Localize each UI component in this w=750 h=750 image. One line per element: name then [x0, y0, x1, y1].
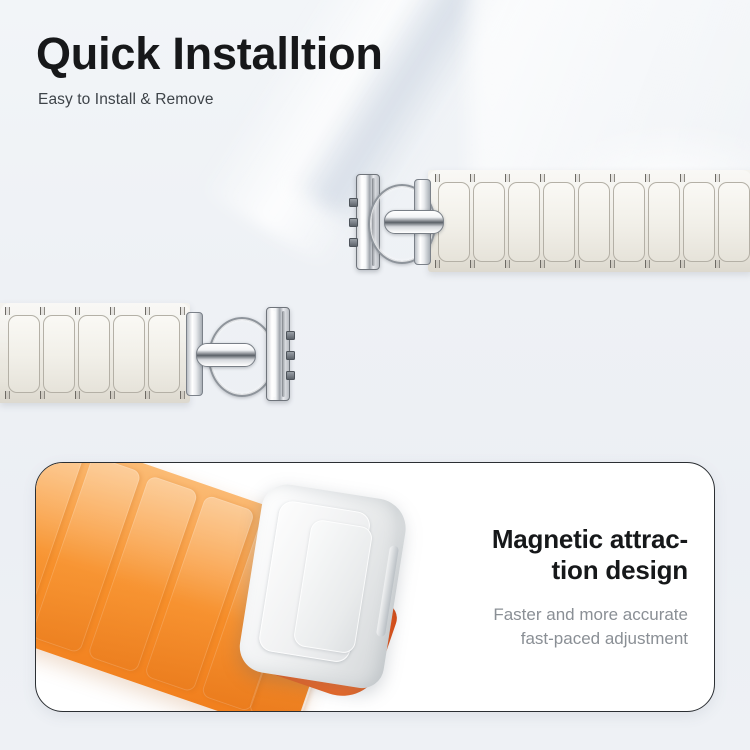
- band-segment: [113, 315, 145, 393]
- feature-title-line-1: Magnetic attrac-: [492, 524, 688, 554]
- feature-card-image: [36, 463, 466, 711]
- band-segment: [148, 315, 180, 393]
- feature-card-text: Magnetic attrac- tion design Faster and …: [436, 463, 688, 711]
- clasp-highlight: [362, 178, 366, 266]
- clasp-shadow: [282, 311, 285, 397]
- clasp-pin: [349, 238, 358, 247]
- band-segment: [543, 182, 575, 262]
- band-notch: [505, 174, 510, 182]
- band-notch: [540, 260, 545, 268]
- band-segment: [613, 182, 645, 262]
- band-notch: [715, 260, 720, 268]
- band-segment: [578, 182, 610, 262]
- band-notch: [715, 174, 720, 182]
- band-segment: [508, 182, 540, 262]
- page-subtitle: Easy to Install & Remove: [38, 91, 383, 109]
- band-notch: [180, 307, 185, 315]
- feature-title-line-2: tion design: [552, 555, 688, 585]
- band-segment: [648, 182, 680, 262]
- band-notch: [645, 260, 650, 268]
- feature-title: Magnetic attrac- tion design: [436, 524, 688, 585]
- band-notch: [540, 174, 545, 182]
- clasp-pin: [349, 218, 358, 227]
- lower-band-assembly: [0, 303, 300, 403]
- band-segment: [43, 315, 75, 393]
- lower-band-strap: [0, 303, 190, 403]
- band-segment: [8, 315, 40, 393]
- feature-description: Faster and more accurate fast-paced adju…: [436, 603, 688, 650]
- feature-card: Magnetic attrac- tion design Faster and …: [35, 462, 715, 712]
- lower-band-clasp: [186, 303, 298, 403]
- release-pin: [384, 210, 444, 234]
- page-title: Quick Installtion: [36, 30, 383, 77]
- upper-band-strap: [428, 170, 750, 272]
- clasp-highlight: [272, 311, 276, 397]
- band-notch: [645, 174, 650, 182]
- band-notch: [110, 307, 115, 315]
- band-segment: [683, 182, 715, 262]
- band-notch: [470, 174, 475, 182]
- band-notch: [470, 260, 475, 268]
- band-notch: [75, 307, 80, 315]
- band-segment: [78, 315, 110, 393]
- band-notch: [575, 260, 580, 268]
- header-block: Quick Installtion Easy to Install & Remo…: [36, 30, 383, 109]
- band-notch: [180, 391, 185, 399]
- band-notch: [680, 174, 685, 182]
- band-notch: [680, 260, 685, 268]
- band-segment: [718, 182, 750, 262]
- band-notch: [40, 307, 45, 315]
- band-notch: [610, 260, 615, 268]
- magnetic-buckle: [236, 481, 410, 692]
- band-notch: [40, 391, 45, 399]
- clasp-pin: [286, 371, 295, 380]
- band-notch: [145, 391, 150, 399]
- band-notch: [505, 260, 510, 268]
- feature-desc-line-2: fast-paced adjustment: [521, 629, 688, 648]
- clasp-pin: [286, 351, 295, 360]
- band-notch: [5, 391, 10, 399]
- band-notch: [145, 307, 150, 315]
- band-notch: [75, 391, 80, 399]
- band-notch: [110, 391, 115, 399]
- upper-band-clasp: [352, 170, 462, 272]
- upper-band-assembly: [352, 170, 750, 272]
- release-pin: [196, 343, 256, 367]
- clasp-pin: [349, 198, 358, 207]
- band-notch: [610, 174, 615, 182]
- product-marketing-image: Quick Installtion Easy to Install & Remo…: [0, 0, 750, 750]
- band-notch: [575, 174, 580, 182]
- feature-desc-line-1: Faster and more accurate: [493, 605, 688, 624]
- clasp-pin: [286, 331, 295, 340]
- band-notch: [5, 307, 10, 315]
- band-segment: [473, 182, 505, 262]
